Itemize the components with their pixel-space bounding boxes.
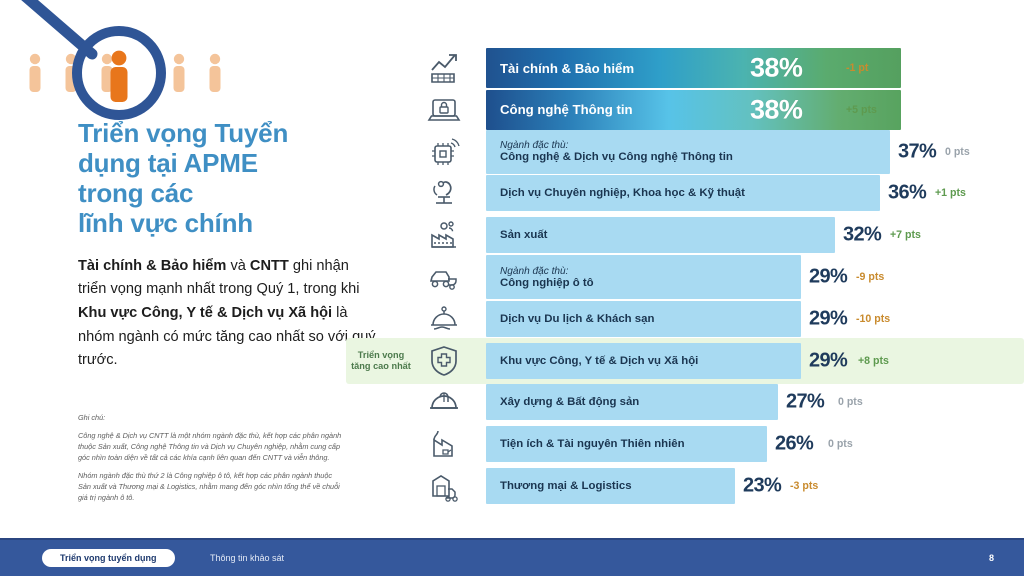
- chart-row[interactable]: Tài chính & Bảo hiểm38%-1 pt: [418, 48, 1024, 88]
- bar[interactable]: Ngành đặc thù:Công nghệ & Dịch vụ Công n…: [486, 130, 890, 174]
- laptop-lock-icon: [424, 90, 464, 130]
- lede-part-2: và: [226, 258, 250, 274]
- chart-row[interactable]: Triển vọngtăng cao nhấtKhu vực Công, Y t…: [418, 341, 1024, 381]
- footer-page-number: 8: [989, 553, 994, 563]
- bar[interactable]: Tiện ích & Tài nguyên Thiên nhiên: [486, 426, 767, 462]
- chart-row[interactable]: Thương mại & Logistics23%-3 pts: [418, 466, 1024, 506]
- bar[interactable]: Thương mại & Logistics: [486, 468, 735, 504]
- bar-main-label: Công nghệ & Dịch vụ Công nghệ Thông tin: [500, 151, 733, 163]
- lede-part-5: Khu vực Công, Y tế & Dịch vụ Xã hội: [78, 305, 332, 321]
- footnote-paragraph-2: Nhóm ngành đặc thù thứ 2 là Công nghiệp …: [78, 470, 346, 503]
- chart-row[interactable]: Ngành đặc thù:Công nghiệp ô tô29%-9 pts: [418, 257, 1024, 297]
- bar-value: 38%: [750, 94, 802, 125]
- bar-label: Ngành đặc thù:Công nghiệp ô tô: [486, 266, 594, 289]
- bar-change-label: -1 pt: [846, 62, 868, 74]
- bar-label: Công nghệ Thông tin: [486, 102, 633, 117]
- bar-value: 32%: [843, 224, 881, 247]
- bar-sublabel: Ngành đặc thù:: [500, 266, 594, 277]
- chart-growth-icon: [424, 48, 464, 88]
- page-title: Triển vọng Tuyểndụng tại APMEtrong cáclĩ…: [78, 118, 378, 239]
- chip-wifi-icon: [424, 132, 464, 172]
- bar-change-label: +1 pts: [935, 187, 966, 199]
- bar-change-label: -10 pts: [856, 313, 890, 325]
- chart-row[interactable]: Dịch vụ Du lịch & Khách sạn29%-10 pts: [418, 299, 1024, 339]
- lede-paragraph: Tài chính & Bảo hiểm và CNTT ghi nhận tr…: [78, 255, 378, 373]
- bar-label: Dịch vụ Chuyên nghiệp, Khoa học & Kỹ thu…: [486, 187, 745, 199]
- footnote-paragraph-1: Công nghệ & Dịch vụ CNTT là một nhóm ngà…: [78, 430, 346, 463]
- bar-label: Dịch vụ Du lịch & Khách sạn: [486, 313, 654, 325]
- utility-plant-icon: [424, 424, 464, 464]
- chart-row[interactable]: Ngành đặc thù:Công nghệ & Dịch vụ Công n…: [418, 132, 1024, 172]
- lede-part-3: CNTT: [250, 258, 289, 274]
- page-title-line-3: trong các: [78, 178, 378, 208]
- bar-value: 38%: [750, 53, 802, 84]
- bar[interactable]: Xây dựng & Bất động sản: [486, 384, 778, 420]
- warehouse-truck-icon: [424, 466, 464, 506]
- bar-change-label: +8 pts: [858, 355, 889, 367]
- bar-label: Ngành đặc thù:Công nghệ & Dịch vụ Công n…: [486, 140, 733, 163]
- bar-value: 27%: [786, 391, 824, 414]
- bar-sublabel: Ngành đặc thù:: [500, 140, 733, 151]
- highlight-tag-line-1: Triển vọng: [350, 349, 412, 360]
- bar-label: Thương mại & Logistics: [486, 480, 632, 492]
- footnote-heading: Ghi chú:: [78, 412, 346, 423]
- bar-change-label: -9 pts: [856, 271, 884, 283]
- bar-change-label: -3 pts: [790, 480, 818, 492]
- footer-bar: Triển vọng tuyển dụng Thông tin khảo sát…: [0, 538, 1024, 576]
- factory-icon: [424, 215, 464, 255]
- car-icon: [424, 257, 464, 297]
- hard-hat-icon: [424, 382, 464, 422]
- shield-health-icon: [424, 341, 464, 381]
- bar[interactable]: Ngành đặc thù:Công nghiệp ô tô: [486, 255, 801, 299]
- highlight-tag: Triển vọngtăng cao nhất: [350, 349, 412, 371]
- bar-change-label: +7 pts: [890, 229, 921, 241]
- bar[interactable]: Tài chính & Bảo hiểm: [486, 48, 901, 88]
- bar-change-label: 0 pts: [945, 146, 970, 158]
- bar-change-label: +5 pts: [846, 104, 877, 116]
- magnifier-people-icon: [0, 0, 400, 130]
- bar-label: Tài chính & Bảo hiểm: [486, 61, 634, 76]
- bar[interactable]: Khu vực Công, Y tế & Dịch vụ Xã hội: [486, 343, 801, 379]
- industry-outlook-bar-chart: Tài chính & Bảo hiểm38%-1 ptCông nghệ Th…: [418, 48, 1024, 510]
- page-title-line-2: dụng tại APME: [78, 148, 378, 178]
- bar-value: 29%: [809, 349, 847, 372]
- bar[interactable]: Dịch vụ Du lịch & Khách sạn: [486, 301, 801, 337]
- footnote-block: Ghi chú: Công nghệ & Dịch vụ CNTT là một…: [78, 412, 346, 504]
- hero-illustration: [0, 0, 400, 130]
- bar-value: 36%: [888, 182, 926, 205]
- bar-change-label: 0 pts: [838, 396, 863, 408]
- bar[interactable]: Sản xuất: [486, 217, 835, 253]
- chart-row[interactable]: Sản xuất32%+7 pts: [418, 215, 1024, 255]
- footer-subtitle: Thông tin khảo sát: [210, 553, 284, 563]
- bar[interactable]: Dịch vụ Chuyên nghiệp, Khoa học & Kỹ thu…: [486, 175, 880, 211]
- page-title-line-4: lĩnh vực chính: [78, 208, 378, 238]
- room-service-icon: [424, 299, 464, 339]
- chart-row[interactable]: Công nghệ Thông tin38%+5 pts: [418, 90, 1024, 130]
- bar-value: 23%: [743, 475, 781, 498]
- highlight-tag-line-2: tăng cao nhất: [350, 361, 412, 372]
- bar-label: Tiện ích & Tài nguyên Thiên nhiên: [486, 438, 685, 450]
- lede-part-1: Tài chính & Bảo hiểm: [78, 258, 226, 274]
- bar-change-label: 0 pts: [828, 438, 853, 450]
- bar-value: 29%: [809, 307, 847, 330]
- page-title-line-1: Triển vọng Tuyển: [78, 118, 378, 148]
- chart-row[interactable]: Xây dựng & Bất động sản27%0 pts: [418, 382, 1024, 422]
- bar[interactable]: Công nghệ Thông tin: [486, 90, 901, 130]
- bar-label: Xây dựng & Bất động sản: [486, 396, 639, 408]
- chart-row[interactable]: Tiện ích & Tài nguyên Thiên nhiên26%0 pt…: [418, 424, 1024, 464]
- footer-chapter-pill[interactable]: Triển vọng tuyển dụng: [42, 549, 175, 567]
- bar-main-label: Công nghiệp ô tô: [500, 277, 594, 289]
- microscope-icon: [424, 173, 464, 213]
- bar-value: 26%: [775, 433, 813, 456]
- bar-label: Sản xuất: [486, 229, 547, 241]
- chart-row[interactable]: Dịch vụ Chuyên nghiệp, Khoa học & Kỹ thu…: [418, 173, 1024, 213]
- bar-label: Khu vực Công, Y tế & Dịch vụ Xã hội: [486, 355, 698, 367]
- bar-value: 37%: [898, 140, 936, 163]
- bar-value: 29%: [809, 266, 847, 289]
